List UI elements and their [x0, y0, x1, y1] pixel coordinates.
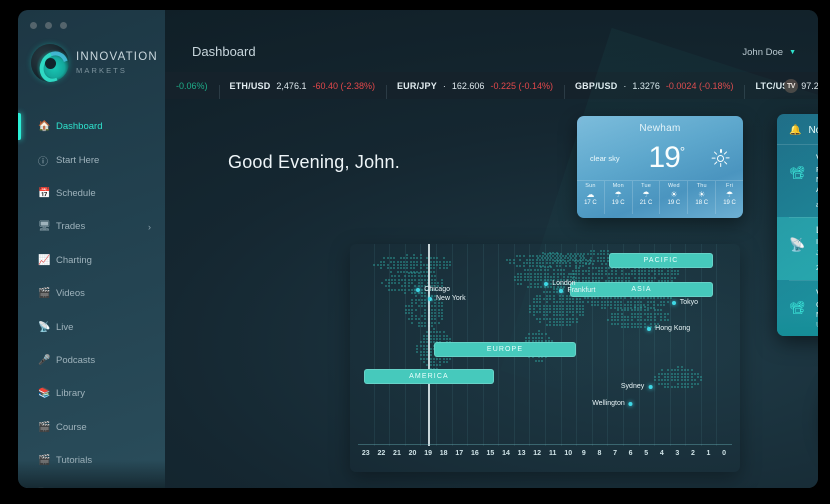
forecast-day: Mon ☂ 19 C: [605, 181, 633, 214]
brand-name: INNOVATION: [76, 52, 158, 64]
ticker-item-eth-usd[interactable]: ETH/USD 2,476.1 -60.40 (-2.38%): [219, 81, 386, 91]
ticker-symbol: GBP/USD: [575, 81, 617, 91]
sidebar-item-podcasts[interactable]: 🎤 Podcasts: [18, 344, 165, 377]
sidebar-item-trades[interactable]: 🖥 Trades ›: [18, 210, 165, 243]
notifications-title: Notifications: [808, 125, 818, 136]
sidebar-item-tutorials[interactable]: 🎬 Tutorials: [18, 444, 165, 477]
notification-item[interactable]: 📽 Videos Crypto Flow - 16/05/25 New vide…: [777, 280, 818, 336]
rain-icon: ☂: [605, 189, 632, 200]
notification-subject: Forex Live - London session - 16th May: [816, 165, 818, 175]
sidebar: INNOVATION MARKETS 🏠 Dashboard ⓘ Start H…: [18, 10, 165, 488]
notification-timestamp: a day ago: [816, 202, 818, 209]
user-menu[interactable]: John Doe ▼: [742, 47, 796, 58]
ticker-change: -60.40 (-2.38%): [312, 81, 375, 91]
notification-timestamp: 2 days ago: [816, 265, 818, 272]
weather-temperature: 19°: [649, 143, 685, 173]
topbar: Dashboard John Doe ▼: [165, 10, 818, 72]
ticker-item-eur-jpy[interactable]: EUR/JPY · 162.606 -0.225 (-0.14%): [386, 81, 564, 91]
ticker-partial-change: -0.06%): [176, 81, 208, 91]
ticker-symbol: ETH/USD: [230, 81, 271, 91]
greeting-text: Good Evening, John.: [228, 152, 400, 173]
notification-item[interactable]: 📡 Lives Innovation Markets is now LIVE! …: [777, 217, 818, 279]
forecast-day: Wed ☀ 19 C: [660, 181, 688, 214]
notification-category: Lives: [816, 225, 818, 235]
city-dot-icon: [672, 301, 676, 305]
main-content: Dashboard John Doe ▼ -0.06%) ETH/USD 2,4…: [165, 10, 818, 488]
notification-detail: New video available to watch in the Live…: [816, 175, 818, 195]
sidebar-item-charting[interactable]: 📈 Charting: [18, 244, 165, 277]
city-dot-icon: [647, 327, 651, 331]
sidebar-item-label: Library: [56, 388, 85, 399]
notification-detail: New video available to watch in the Mark…: [816, 310, 818, 330]
sun-icon: [713, 150, 729, 166]
map-city-tokyo: Tokyo: [672, 299, 698, 306]
info-icon: ⓘ: [38, 153, 56, 168]
city-dot-icon: [416, 288, 420, 292]
hour-axis: 23222120191817161514131211109876543210: [358, 444, 732, 466]
rain-icon: ☂: [716, 189, 743, 200]
ticker-dot-icon: ·: [623, 81, 626, 91]
current-time-line: [428, 244, 430, 446]
rain-icon: ☂: [633, 189, 660, 200]
sidebar-item-schedule[interactable]: 📅 Schedule: [18, 177, 165, 210]
sidebar-item-risk-calculator[interactable]: 🖩 Risk Calculator: [18, 477, 165, 488]
sidebar-item-label: Podcasts: [56, 355, 95, 366]
sidebar-item-course[interactable]: 🎬 Course: [18, 411, 165, 444]
forecast-day: Tue ☂ 21 C: [633, 181, 661, 214]
forecast-day: Thu ☀ 18 C: [688, 181, 716, 214]
sidebar-item-dashboard[interactable]: 🏠 Dashboard: [18, 110, 165, 143]
screen: INNOVATION MARKETS 🏠 Dashboard ⓘ Start H…: [0, 0, 830, 504]
monitor-icon: 🖥: [38, 221, 56, 232]
brand-logo: INNOVATION MARKETS: [31, 44, 158, 82]
city-dot-icon: [629, 402, 633, 406]
map-city-chicago: Chicago: [416, 286, 450, 293]
weather-description: clear sky: [590, 154, 620, 163]
ticker-price: 1.3276: [632, 81, 660, 91]
bell-icon: 🔔: [789, 125, 801, 136]
market-ticker[interactable]: -0.06%) ETH/USD 2,476.1 -60.40 (-2.38%) …: [165, 72, 818, 99]
session-bar-america[interactable]: AMERICA: [364, 369, 495, 384]
map-city-frankfurt: Frankfurt: [559, 287, 595, 294]
sidebar-item-live[interactable]: 📡 Live: [18, 310, 165, 343]
map-city-sydney: Sydney: [621, 383, 652, 390]
calendar-icon: 📅: [38, 188, 56, 199]
home-icon: 🏠: [38, 121, 56, 132]
sidebar-item-label: Schedule: [56, 188, 96, 199]
sidebar-nav: 🏠 Dashboard ⓘ Start Here 📅 Schedule 🖥 Tr…: [18, 110, 165, 488]
notifications-panel: 🔔 Notifications »› 📽 Videos Forex Live -…: [777, 114, 818, 336]
sidebar-item-label: Live: [56, 322, 73, 333]
sidebar-item-videos[interactable]: 🎬 Videos: [18, 277, 165, 310]
ticker-symbol: EUR/JPY: [397, 81, 437, 91]
sidebar-item-label: Course: [56, 422, 87, 433]
city-dot-icon: [559, 289, 563, 293]
sidebar-item-label: Charting: [56, 255, 92, 266]
user-name: John Doe: [742, 47, 783, 58]
sun-icon: ☀: [688, 189, 715, 200]
notification-subject: Innovation Markets is now LIVE!: [816, 237, 818, 247]
weather-widget[interactable]: Newham clear sky 19°: [577, 116, 743, 218]
page-title: Dashboard: [192, 44, 256, 59]
minimize-icon[interactable]: [45, 22, 52, 29]
weather-forecast: Sun ☁ 17 C Mon ☂ 19 C Tue ☂ 21 C: [577, 180, 743, 214]
microphone-icon: 🎤: [38, 355, 56, 366]
calculator-icon: 🖩: [38, 485, 56, 488]
city-dot-icon: [648, 385, 652, 389]
ticker-price: 162.606: [452, 81, 485, 91]
ticker-price: 97.2: [801, 81, 818, 91]
map-city-new-york: New York: [428, 295, 466, 302]
notifications-header: 🔔 Notifications »›: [777, 114, 818, 145]
ticker-change: -0.0024 (-0.18%): [666, 81, 734, 91]
notification-detail: Join us in the Live section in the app!: [816, 248, 818, 258]
close-icon[interactable]: [30, 22, 37, 29]
map-city-london: London: [544, 280, 575, 287]
chevron-down-icon: ▼: [789, 49, 796, 56]
video-stack-icon: 📽: [789, 153, 807, 210]
city-dot-icon: [544, 282, 548, 286]
sidebar-item-label: Tutorials: [56, 455, 92, 466]
sidebar-item-label: Videos: [56, 288, 85, 299]
market-sessions-map[interactable]: PACIFIC ASIA EUROPE AMERICA Chicago New …: [350, 244, 740, 472]
ticker-change: -0.225 (-0.14%): [490, 81, 553, 91]
video-icon: 🎬: [38, 422, 56, 433]
sidebar-item-library[interactable]: 📚 Library: [18, 377, 165, 410]
chart-line-icon: 📈: [38, 255, 56, 266]
session-bar-europe[interactable]: EUROPE: [434, 342, 576, 357]
notification-item[interactable]: 📽 Videos Forex Live - London session - 1…: [777, 145, 818, 217]
world-map-dots: [350, 244, 740, 472]
notification-category: Videos: [816, 153, 818, 163]
map-city-wellington: Wellington: [592, 400, 633, 407]
map-city-hong-kong: Hong Kong: [647, 325, 690, 332]
sun-icon: ☀: [660, 189, 687, 200]
ticker-item-partial[interactable]: -0.06%): [165, 81, 219, 91]
notification-subject: Crypto Flow - 16/05/25: [816, 300, 818, 310]
books-icon: 📚: [38, 388, 56, 399]
ticker-item-ltc-usd[interactable]: LTC/USD 97.2: [744, 81, 818, 91]
zoom-icon[interactable]: [60, 22, 67, 29]
broadcast-icon: 📡: [38, 322, 56, 333]
sidebar-item-label: Start Here: [56, 155, 99, 166]
sidebar-item-label: Trades: [56, 221, 85, 232]
video-icon: 🎬: [38, 288, 56, 299]
sidebar-item-start-here[interactable]: ⓘ Start Here: [18, 143, 165, 176]
video-stack-icon: 📽: [789, 288, 807, 336]
tradingview-badge-icon[interactable]: TV: [784, 79, 798, 93]
chevron-right-icon: ›: [148, 222, 151, 232]
video-icon: 🎬: [38, 455, 56, 466]
notification-category: Videos: [816, 288, 818, 298]
ticker-dot-icon: ·: [443, 81, 446, 91]
ticker-item-gbp-usd[interactable]: GBP/USD · 1.3276 -0.0024 (-0.18%): [564, 81, 744, 91]
degree-symbol: °: [680, 144, 684, 159]
spiral-logo-icon: [31, 44, 69, 82]
cloud-icon: ☁: [577, 189, 604, 200]
weather-city: Newham: [577, 123, 743, 134]
city-dot-icon: [428, 297, 432, 301]
brand-subtitle: MARKETS: [76, 67, 158, 75]
sidebar-item-label: Dashboard: [56, 121, 102, 132]
app-window: INNOVATION MARKETS 🏠 Dashboard ⓘ Start H…: [18, 10, 818, 488]
broadcast-icon: 📡: [789, 225, 807, 272]
forecast-day: Sun ☁ 17 C: [577, 181, 605, 214]
forecast-day: Fri ☂ 19 C: [716, 181, 743, 214]
ticker-price: 2,476.1: [276, 81, 306, 91]
session-bar-pacific[interactable]: PACIFIC: [609, 253, 712, 268]
window-controls[interactable]: [30, 22, 67, 29]
